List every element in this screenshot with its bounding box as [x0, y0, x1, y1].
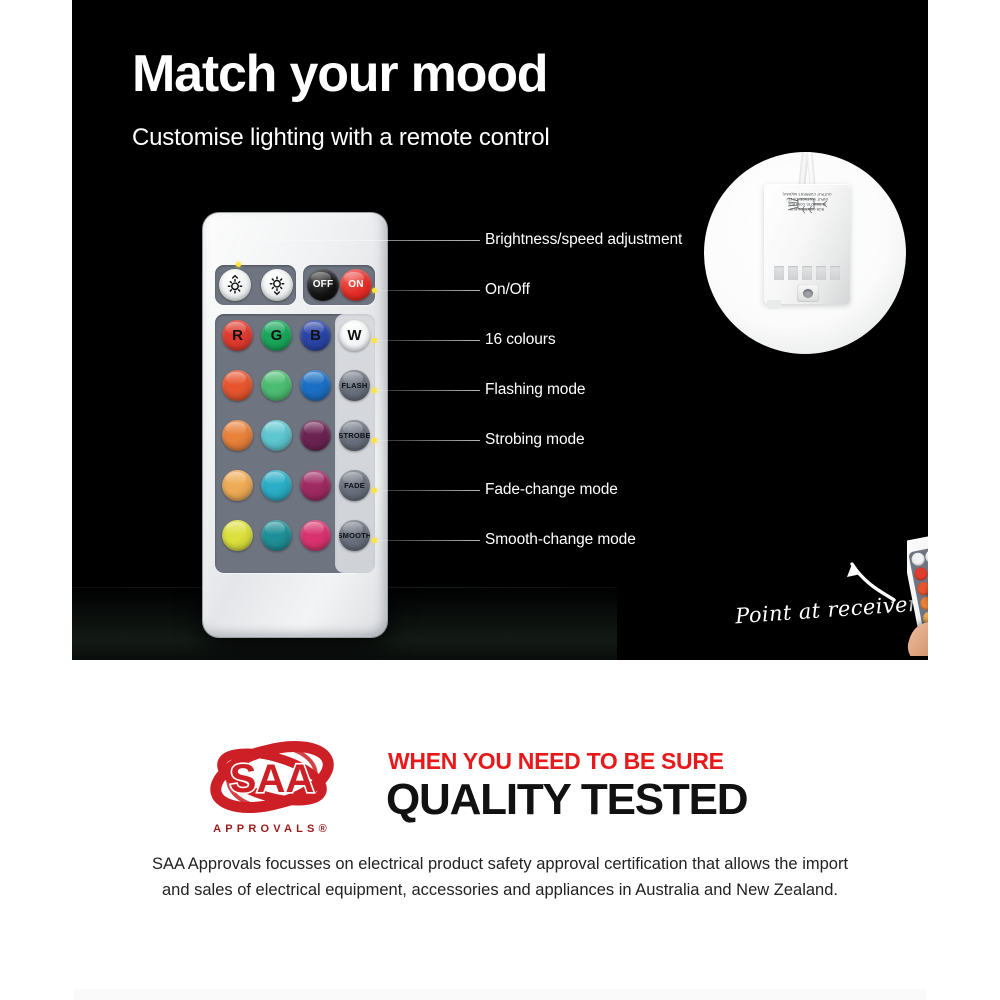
callout-line-smooth — [376, 540, 480, 541]
page-title: Match your mood — [132, 44, 547, 104]
hr-btn[interactable] — [911, 552, 926, 568]
callout-line-fade — [376, 490, 480, 491]
hr-btn[interactable] — [925, 549, 928, 565]
colour-button-3-1[interactable] — [261, 470, 292, 501]
hr-btn[interactable] — [916, 581, 928, 597]
hr-btn[interactable] — [919, 596, 928, 612]
receiver-label-line-3: INPUT VOLTAGE: DC12V — [786, 197, 827, 201]
colour-button-4-2[interactable] — [300, 520, 331, 551]
callout-line-brightness — [238, 240, 480, 241]
colour-button-2-1[interactable] — [261, 420, 292, 451]
page-subtitle: Customise lighting with a remote control — [132, 124, 550, 152]
receiver-label-line-1: RGB CONTROL BOX — [790, 207, 824, 211]
receiver-vents — [774, 266, 840, 280]
off-button-label: OFF — [313, 280, 334, 290]
flash-label: FLASH — [342, 382, 368, 390]
callout-line-colours — [376, 340, 480, 341]
callout-label-colours: 16 colours — [485, 331, 556, 349]
brightness-up-button[interactable] — [219, 269, 251, 301]
callout-label-smooth: Smooth-change mode — [485, 531, 636, 549]
colour-label: R — [232, 328, 243, 343]
vent — [802, 266, 812, 280]
handheld-remote — [907, 530, 928, 656]
colour-button-4-0[interactable] — [222, 520, 253, 551]
receiver-dc-jack — [797, 284, 819, 302]
colour-label: B — [310, 328, 321, 343]
strobe-mode-button[interactable]: STROBE — [339, 420, 370, 451]
colour-button-2-2[interactable] — [300, 420, 331, 451]
colour-button-4-1[interactable] — [261, 520, 292, 551]
vent — [788, 266, 798, 280]
callout-label-brightness: Brightness/speed adjustment — [485, 231, 682, 249]
colour-label: G — [271, 328, 283, 343]
colour-button-1-1[interactable] — [261, 370, 292, 401]
sun-up-icon — [224, 274, 246, 296]
callout-riser-brightness — [238, 240, 239, 264]
receiver-inset: RGB CONTROL BOX IR REMOTE CONTROL INPUT … — [704, 152, 906, 354]
brightness-down-button[interactable] — [261, 269, 293, 301]
bottom-strip — [74, 989, 926, 1000]
callout-label-fade: Fade-change mode — [485, 481, 618, 499]
saa-headline-large: QUALITY TESTED — [386, 775, 747, 825]
on-button[interactable]: ON — [340, 269, 372, 301]
callout-label-strobe: Strobing mode — [485, 431, 585, 449]
rgb-control-box: RGB CONTROL BOX IR REMOTE CONTROL INPUT … — [764, 184, 850, 304]
saa-approvals-text: APPROVALS® — [198, 823, 346, 835]
saa-logo-text: SAA — [230, 757, 314, 801]
receiver-label-block: RGB CONTROL BOX IR REMOTE CONTROL INPUT … — [772, 192, 842, 254]
saa-logo: SAA APPROVALS® — [198, 737, 346, 837]
sun-down-icon — [266, 274, 288, 296]
colour-button-3-2[interactable] — [300, 470, 331, 501]
callout-line-onoff — [376, 290, 480, 291]
vent — [816, 266, 826, 280]
colour-button-white[interactable]: W — [339, 320, 370, 351]
colour-button-2-0[interactable] — [222, 420, 253, 451]
colour-button-red[interactable]: R — [222, 320, 253, 351]
hero-panel: Match your mood Customise lighting with … — [72, 0, 928, 660]
colour-button-green[interactable]: G — [261, 320, 292, 351]
curved-arrow-icon — [832, 552, 904, 604]
fade-label: FADE — [344, 482, 365, 490]
receiver-mount-tab — [767, 300, 781, 309]
colour-button-blue[interactable]: B — [300, 320, 331, 351]
saa-logo-mark: SAA — [198, 737, 346, 821]
hr-btn[interactable] — [927, 564, 928, 580]
callout-label-flash: Flashing mode — [485, 381, 585, 399]
vent — [830, 266, 840, 280]
on-button-label: ON — [348, 280, 363, 290]
callout-line-strobe — [376, 440, 480, 441]
saa-headline-small: WHEN YOU NEED TO BE SURE — [388, 748, 724, 775]
callout-label-onoff: On/Off — [485, 281, 530, 299]
flash-mode-button[interactable]: FLASH — [339, 370, 370, 401]
remote-control: OFF ON R G B W FLASH STROBE FADE SMOOTH — [203, 213, 387, 637]
colour-button-1-2[interactable] — [300, 370, 331, 401]
receiver-label-line-2: IR REMOTE CONTROL — [788, 202, 826, 206]
smooth-mode-button[interactable]: SMOOTH — [339, 520, 370, 551]
saa-paragraph: SAA Approvals focusses on electrical pro… — [140, 852, 860, 903]
smooth-label: SMOOTH — [339, 532, 370, 540]
hr-btn[interactable] — [913, 566, 928, 582]
fade-mode-button[interactable]: FADE — [339, 470, 370, 501]
callout-line-flash — [376, 390, 480, 391]
receiver-label-line-4: OUTPUT CURRENT: 6A(MAX) — [783, 192, 832, 196]
colour-button-1-0[interactable] — [222, 370, 253, 401]
colour-button-3-0[interactable] — [222, 470, 253, 501]
colour-label: W — [347, 328, 361, 343]
vent — [774, 266, 784, 280]
strobe-label: STROBE — [339, 432, 370, 440]
off-button[interactable]: OFF — [307, 269, 339, 301]
